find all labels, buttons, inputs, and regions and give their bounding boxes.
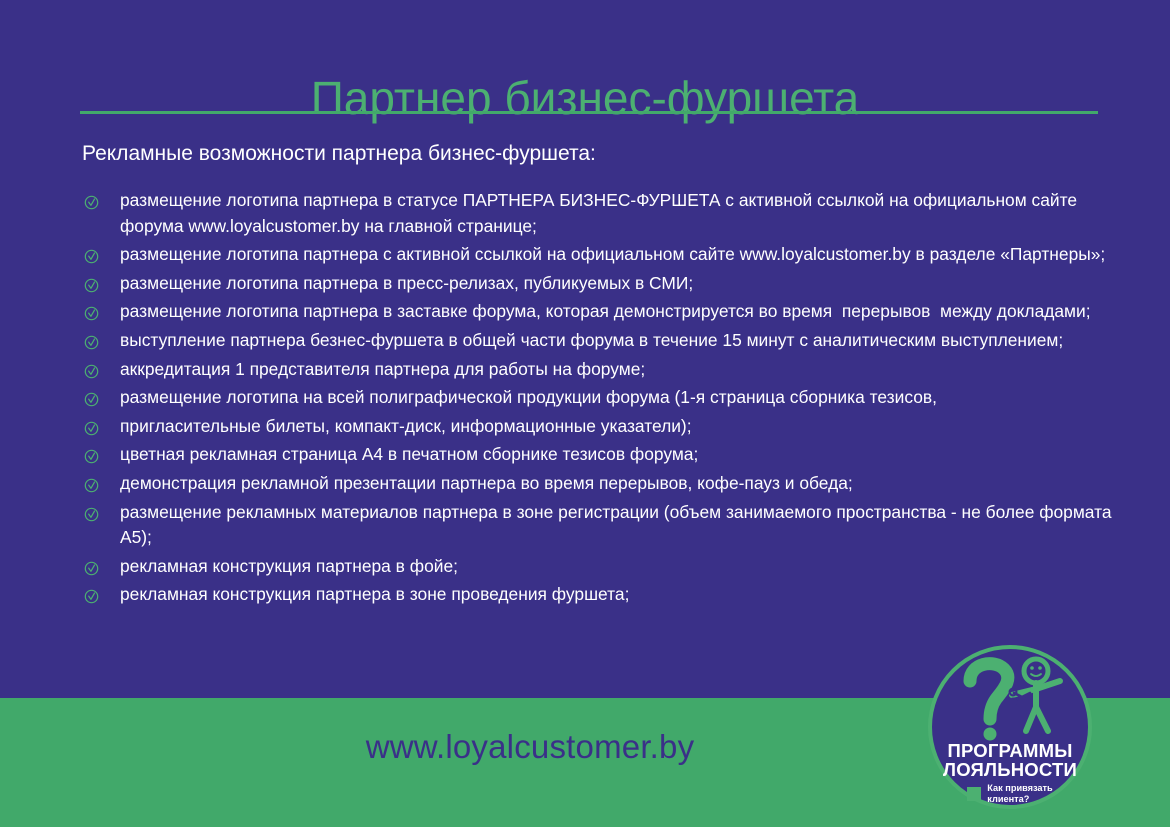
check-circle-icon xyxy=(84,361,99,376)
logo-tagline-wrap: Как привязать клиента? xyxy=(928,783,1092,804)
check-circle-icon xyxy=(84,192,99,207)
check-circle-icon xyxy=(84,246,99,261)
list-item: размещение логотипа партнера в пресс-рел… xyxy=(82,271,1142,297)
list-item-text: размещение логотипа на всей полиграфичес… xyxy=(120,385,1142,411)
list-item-text: демонстрация рекламной презентации партн… xyxy=(120,471,1142,497)
list-item: цветная рекламная страница А4 в печатном… xyxy=(82,442,1142,468)
check-circle-icon xyxy=(84,475,99,490)
list-item: размещение логотипа партнера в статусе П… xyxy=(82,188,1142,239)
question-mark-person-icon xyxy=(950,655,1070,741)
list-item-text: выступление партнера безнес-фуршета в об… xyxy=(120,328,1142,354)
list-item-text: аккредитация 1 представителя партнера дл… xyxy=(120,357,1142,383)
list-item: размещение рекламных материалов партнера… xyxy=(82,500,1142,551)
list-item: рекламная конструкция партнера в фойе; xyxy=(82,554,1142,580)
list-item-text: размещение логотипа партнера в пресс-рел… xyxy=(120,271,1142,297)
logo-text-line1: ПРОГРАММЫ xyxy=(928,741,1092,760)
list-item: размещение логотипа на всей полиграфичес… xyxy=(82,385,1142,411)
list-item: рекламная конструкция партнера в зоне пр… xyxy=(82,582,1142,608)
list-item: размещение логотипа партнера с активной … xyxy=(82,242,1142,268)
list-item-text: размещение логотипа партнера в заставке … xyxy=(120,299,1142,325)
list-item-text: пригласительные билеты, компакт-диск, ин… xyxy=(120,414,1142,440)
list-item-text: размещение логотипа партнера в статусе П… xyxy=(120,188,1142,239)
check-circle-icon xyxy=(84,275,99,290)
slide-root: Партнер бизнес-фуршета Рекламные возможн… xyxy=(0,0,1170,827)
logo-tagline: Как привязать клиента? xyxy=(987,783,1052,804)
check-circle-icon xyxy=(84,389,99,404)
list-item: демонстрация рекламной презентации партн… xyxy=(82,471,1142,497)
list-item-text: рекламная конструкция партнера в зоне пр… xyxy=(120,582,1142,608)
subtitle: Рекламные возможности партнера бизнес-фу… xyxy=(82,140,596,167)
loyalty-programs-logo: ПРОГРАММЫ ЛОЯЛЬНОСТИ Как привязать клиен… xyxy=(928,645,1092,809)
logo-text-line2: ЛОЯЛЬНОСТИ xyxy=(928,760,1092,779)
logo-square-icon xyxy=(967,787,981,801)
check-circle-icon xyxy=(84,418,99,433)
check-circle-icon xyxy=(84,558,99,573)
list-item: выступление партнера безнес-фуршета в об… xyxy=(82,328,1142,354)
list-item-text: размещение рекламных материалов партнера… xyxy=(120,500,1142,551)
list-item: пригласительные билеты, компакт-диск, ин… xyxy=(82,414,1142,440)
check-circle-icon xyxy=(84,586,99,601)
list-item-text: размещение логотипа партнера с активной … xyxy=(120,242,1142,268)
title-divider xyxy=(80,111,1098,114)
list-item: размещение логотипа партнера в заставке … xyxy=(82,299,1142,325)
benefits-list: размещение логотипа партнера в статусе П… xyxy=(82,188,1142,611)
check-circle-icon xyxy=(84,303,99,318)
check-circle-icon xyxy=(84,332,99,347)
list-item-text: рекламная конструкция партнера в фойе; xyxy=(120,554,1142,580)
check-circle-icon xyxy=(84,446,99,461)
list-item-text: цветная рекламная страница А4 в печатном… xyxy=(120,442,1142,468)
list-item: аккредитация 1 представителя партнера дл… xyxy=(82,357,1142,383)
page-title: Партнер бизнес-фуршета xyxy=(0,71,1170,125)
check-circle-icon xyxy=(84,504,99,519)
